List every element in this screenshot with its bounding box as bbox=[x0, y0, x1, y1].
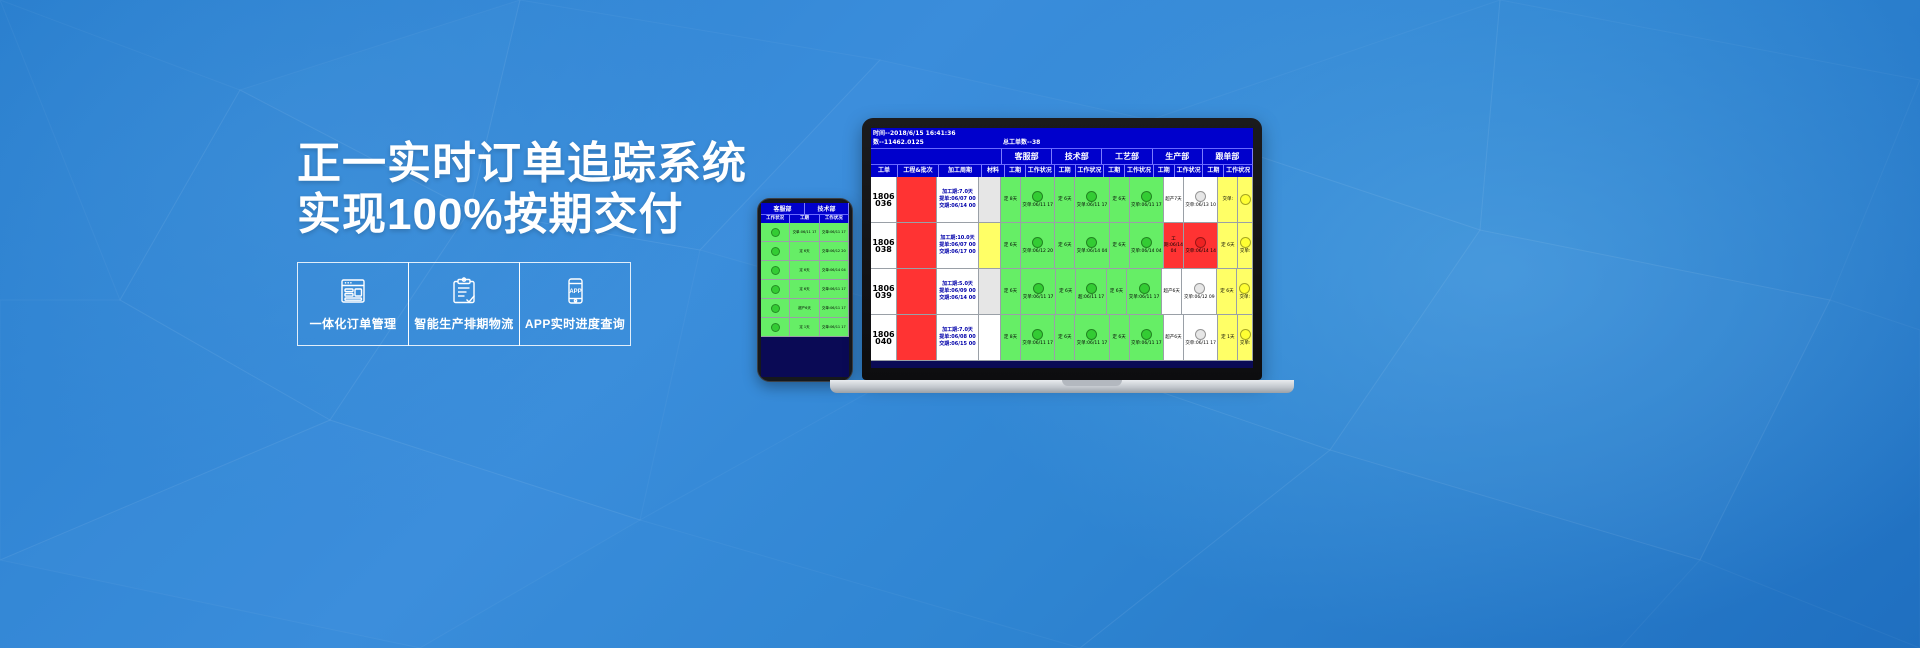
clipboard-check-icon bbox=[449, 276, 479, 306]
cell-生产部-status: 交单:06/12 09 bbox=[1182, 269, 1217, 314]
phone-cell-status bbox=[761, 299, 790, 317]
cell-order-no: 1806038 bbox=[871, 223, 897, 268]
feature-box-group: 一体化订单管理 智能生产排期物流 APP AP bbox=[297, 262, 630, 346]
cell-客服部-duration: 定 8天 bbox=[1001, 315, 1021, 360]
phone-col-1: 工期 bbox=[790, 215, 819, 223]
status-dot-icon bbox=[1032, 237, 1043, 248]
laptop-lid: 时间--2018/6/15 16:41:36 数--11462.0125 总工单… bbox=[862, 118, 1262, 380]
status-dot-icon bbox=[1086, 283, 1097, 294]
cell-material bbox=[979, 269, 1001, 314]
cell-工艺部-duration: 定 6天 bbox=[1110, 223, 1130, 268]
cell-跟单部-duration: 定 6天 bbox=[1218, 223, 1238, 268]
cell-cycle: 加工期:7.0天提单:06/07 00交期:06/14 00 bbox=[937, 177, 979, 222]
cell-技术部-status: 交单:06/11 17 bbox=[1075, 315, 1109, 360]
cell-工艺部-status: 交单:06/11 17 bbox=[1130, 315, 1164, 360]
phone-cell-date: 交单:06/14 04 bbox=[820, 261, 849, 279]
cell-跟单部-duration: 交单: bbox=[1218, 177, 1238, 222]
col-header-工艺部-工作状况: 工作状况 bbox=[1125, 165, 1154, 177]
status-dot-icon bbox=[1141, 191, 1152, 202]
phone-cell-date: 交单:06/11 17 bbox=[820, 223, 849, 241]
cell-技术部-duration: 定 6天 bbox=[1056, 269, 1076, 314]
col-header-0: 工单 bbox=[871, 165, 898, 177]
col-header-工艺部-工期: 工期 bbox=[1104, 165, 1125, 177]
phone-screen[interactable]: 客服部 技术部 工作状况 工期 工作状况 交单:06/11 17交单:06/11… bbox=[761, 203, 849, 377]
feature-label-app-progress: APP实时进度查询 bbox=[525, 315, 625, 332]
cell-material bbox=[979, 315, 1001, 360]
cell-生产部-status: 交单:06/14 14 bbox=[1184, 223, 1218, 268]
status-dot-icon bbox=[771, 323, 780, 332]
col-header-技术部-工作状况: 工作状况 bbox=[1076, 165, 1105, 177]
cell-跟单部-status: 交单: bbox=[1238, 315, 1253, 360]
col-header-跟单部-工期: 工期 bbox=[1203, 165, 1224, 177]
col-header-2: 加工周期 bbox=[939, 165, 982, 177]
phone-table-row[interactable]: 定 1天交单:06/11 17 bbox=[761, 318, 849, 337]
phone-cell-status bbox=[761, 280, 790, 298]
status-dot-icon bbox=[1239, 283, 1250, 294]
cell-跟单部-duration: 定 1天 bbox=[1218, 315, 1238, 360]
mobile-app-icon: APP bbox=[560, 276, 590, 306]
cell-工艺部-duration: 定 6天 bbox=[1107, 269, 1127, 314]
phone-table-row[interactable]: 定 6天交单:06/11 17 bbox=[761, 280, 849, 299]
dashboard-row-list: 1806036加工期:7.0天提单:06/07 00交期:06/14 00定 8… bbox=[871, 177, 1253, 361]
dashboard-department-header: 客服部 技术部 工艺部 生产部 跟单部 bbox=[871, 148, 1253, 164]
status-dot-icon bbox=[1194, 283, 1205, 294]
headline-line-1: 正一实时订单追踪系统 bbox=[297, 138, 767, 189]
dashboard-column-header: 工单工程&批次加工周期材料工期工作状况工期工作状况工期工作状况工期工作状况工期工… bbox=[871, 164, 1253, 177]
cell-生产部-status: 交单:06/11 17 bbox=[1184, 315, 1218, 360]
col-header-客服部-工期: 工期 bbox=[1005, 165, 1026, 177]
phone-col-2: 工作状况 bbox=[820, 215, 849, 223]
cell-客服部-status: 交单:06/11 17 bbox=[1021, 177, 1055, 222]
cell-material bbox=[979, 223, 1001, 268]
phone-body: 客服部 技术部 工作状况 工期 工作状况 交单:06/11 17交单:06/11… bbox=[757, 198, 853, 382]
cell-技术部-status: 交单:06/14 04 bbox=[1075, 223, 1109, 268]
layout-page-icon bbox=[338, 276, 368, 306]
status-dot-icon bbox=[1086, 329, 1097, 340]
cell-客服部-duration: 定 6天 bbox=[1001, 223, 1021, 268]
status-dot-icon bbox=[1139, 283, 1150, 294]
cell-工艺部-duration: 定 6天 bbox=[1110, 315, 1130, 360]
status-dot-icon bbox=[1195, 191, 1206, 202]
cell-技术部-status: 超:06/11 17 bbox=[1076, 269, 1107, 314]
phone-table-row[interactable]: 交单:06/11 17交单:06/11 17 bbox=[761, 223, 849, 242]
cell-工艺部-duration: 定 6天 bbox=[1110, 177, 1130, 222]
phone-cell-duration: 交单:06/11 17 bbox=[790, 223, 819, 241]
cell-工艺部-status: 交单:06/11 17 bbox=[1130, 177, 1164, 222]
cell-客服部-duration: 定 8天 bbox=[1001, 177, 1021, 222]
phone-mockup: 客服部 技术部 工作状况 工期 工作状况 交单:06/11 17交单:06/11… bbox=[757, 198, 853, 382]
cell-生产部-duration: 超产6天 bbox=[1162, 269, 1182, 314]
phone-cell-status bbox=[761, 318, 790, 336]
cell-cycle: 加工期:10.0天提单:06/07 00交期:06/17 00 bbox=[937, 223, 979, 268]
phone-col-0: 工作状况 bbox=[761, 215, 790, 223]
status-dot-icon bbox=[1032, 191, 1043, 202]
phone-cell-date: 交单:06/12 20 bbox=[820, 242, 849, 260]
status-dot-icon bbox=[1195, 237, 1206, 248]
phone-column-header: 工作状况 工期 工作状况 bbox=[761, 214, 849, 223]
cell-客服部-status: 交单:06/11 17 bbox=[1021, 269, 1056, 314]
status-dot-icon bbox=[771, 285, 780, 294]
dept-header-0: 客服部 bbox=[1002, 149, 1052, 164]
phone-cell-status bbox=[761, 261, 790, 279]
cell-工艺部-status: 交单:06/14 04 bbox=[1130, 223, 1164, 268]
cell-生产部-status: 交单:06/13 10 bbox=[1184, 177, 1218, 222]
cell-技术部-duration: 定 6天 bbox=[1055, 223, 1075, 268]
phone-cell-duration: 超产6天 bbox=[790, 299, 819, 317]
cell-batch bbox=[897, 223, 937, 268]
status-dot-icon bbox=[1141, 329, 1152, 340]
status-dot-icon bbox=[771, 304, 780, 313]
cell-生产部-duration: 超产7天 bbox=[1164, 177, 1184, 222]
phone-table-row[interactable]: 定 6天交单:06/12 20 bbox=[761, 242, 849, 261]
phone-cell-duration: 定 1天 bbox=[790, 318, 819, 336]
cell-order-no: 1806039 bbox=[871, 269, 897, 314]
status-dot-icon bbox=[1086, 191, 1097, 202]
dept-header-2: 工艺部 bbox=[1102, 149, 1152, 164]
dashboard-time: 时间--2018/6/15 16:41:36 bbox=[873, 129, 1003, 138]
status-dot-icon bbox=[1195, 329, 1206, 340]
cell-客服部-status: 交单:06/11 17 bbox=[1021, 315, 1055, 360]
feature-box-smart-scheduling[interactable]: 智能生产排期物流 bbox=[408, 262, 520, 346]
dept-header-4: 跟单部 bbox=[1203, 149, 1253, 164]
status-dot-icon bbox=[1032, 329, 1043, 340]
status-dot-icon bbox=[1086, 237, 1097, 248]
table-row[interactable]: 1806039加工期:5.0天提单:06/09 00交期:06/14 00定 6… bbox=[871, 269, 1253, 315]
phone-cell-duration: 定 6天 bbox=[790, 261, 819, 279]
status-dot-icon bbox=[771, 228, 780, 237]
phone-table-row[interactable]: 超产6天交单:06/11 17 bbox=[761, 299, 849, 318]
status-dot-icon bbox=[1240, 237, 1251, 248]
cell-技术部-duration: 定 6天 bbox=[1055, 177, 1075, 222]
cell-batch bbox=[897, 269, 937, 314]
status-dot-icon bbox=[1033, 283, 1044, 294]
status-dot-icon bbox=[1141, 237, 1152, 248]
laptop-screen[interactable]: 时间--2018/6/15 16:41:36 数--11462.0125 总工单… bbox=[871, 128, 1253, 368]
phone-cell-status bbox=[761, 242, 790, 260]
cell-跟单部-status: 交单: bbox=[1237, 269, 1253, 314]
phone-table-row[interactable]: 定 6天交单:06/14 04 bbox=[761, 261, 849, 280]
svg-text:APP: APP bbox=[569, 289, 581, 295]
col-header-跟单部-工作状况: 工作状况 bbox=[1224, 165, 1253, 177]
phone-department-header: 客服部 技术部 bbox=[761, 203, 849, 214]
table-row[interactable]: 1806040加工期:7.0天提单:06/08 00交期:06/15 00定 8… bbox=[871, 315, 1253, 361]
cell-batch bbox=[897, 177, 937, 222]
dashboard-total-orders: 总工单数--38 bbox=[1003, 138, 1251, 147]
laptop-mockup: 时间--2018/6/15 16:41:36 数--11462.0125 总工单… bbox=[862, 118, 1322, 418]
cell-order-no: 1806040 bbox=[871, 315, 897, 360]
phone-cell-date: 交单:06/11 17 bbox=[820, 299, 849, 317]
cell-生产部-duration: 工期:06/14 04 bbox=[1164, 223, 1184, 268]
col-header-生产部-工期: 工期 bbox=[1154, 165, 1175, 177]
headline-line-2: 实现100%按期交付 bbox=[297, 189, 767, 240]
status-dot-icon bbox=[1240, 194, 1251, 205]
cell-跟单部-duration: 定 6天 bbox=[1217, 269, 1237, 314]
cell-跟单部-status bbox=[1238, 177, 1253, 222]
feature-label-order-management: 一体化订单管理 bbox=[310, 315, 397, 332]
feature-box-order-management[interactable]: 一体化订单管理 bbox=[297, 262, 409, 346]
feature-box-app-progress[interactable]: APP APP实时进度查询 bbox=[519, 262, 631, 346]
cell-客服部-duration: 定 6天 bbox=[1001, 269, 1021, 314]
dept-header-1: 技术部 bbox=[1052, 149, 1102, 164]
dept-header-3: 生产部 bbox=[1153, 149, 1203, 164]
phone-cell-date: 交单:06/11 17 bbox=[820, 280, 849, 298]
table-row[interactable]: 1806038加工期:10.0天提单:06/07 00交期:06/17 00定 … bbox=[871, 223, 1253, 269]
laptop-notch bbox=[1062, 380, 1122, 386]
cell-客服部-status: 交单:06/12 20 bbox=[1021, 223, 1055, 268]
cell-cycle: 加工期:5.0天提单:06/09 00交期:06/14 00 bbox=[937, 269, 979, 314]
col-header-1: 工程&批次 bbox=[898, 165, 939, 177]
cell-工艺部-status: 交单:06/11 17 bbox=[1127, 269, 1162, 314]
dashboard-counter: 数--11462.0125 bbox=[873, 138, 1003, 147]
cell-技术部-status: 交单:06/11 17 bbox=[1075, 177, 1109, 222]
phone-cell-date: 交单:06/11 17 bbox=[820, 318, 849, 336]
phone-dept-0: 客服部 bbox=[761, 203, 805, 214]
col-header-3: 材料 bbox=[982, 165, 1005, 177]
hero-copy: 正一实时订单追踪系统 实现100%按期交付 bbox=[297, 138, 767, 240]
phone-cell-status bbox=[761, 223, 790, 241]
dashboard-topbar: 时间--2018/6/15 16:41:36 数--11462.0125 总工单… bbox=[871, 128, 1253, 148]
status-dot-icon bbox=[1240, 329, 1251, 340]
phone-cell-duration: 定 6天 bbox=[790, 280, 819, 298]
cell-material bbox=[979, 177, 1001, 222]
col-header-客服部-工作状况: 工作状况 bbox=[1026, 165, 1055, 177]
dept-header-spacer bbox=[871, 149, 1002, 164]
cell-生产部-duration: 超产6天 bbox=[1164, 315, 1184, 360]
cell-cycle: 加工期:7.0天提单:06/08 00交期:06/15 00 bbox=[937, 315, 979, 360]
cell-技术部-duration: 定 6天 bbox=[1055, 315, 1075, 360]
cell-跟单部-status: 交单: bbox=[1238, 223, 1253, 268]
status-dot-icon bbox=[771, 247, 780, 256]
phone-dept-1: 技术部 bbox=[805, 203, 849, 214]
cell-batch bbox=[897, 315, 937, 360]
feature-label-smart-scheduling: 智能生产排期物流 bbox=[414, 315, 513, 332]
phone-cell-duration: 定 6天 bbox=[790, 242, 819, 260]
col-header-生产部-工作状况: 工作状况 bbox=[1175, 165, 1204, 177]
table-row[interactable]: 1806036加工期:7.0天提单:06/07 00交期:06/14 00定 8… bbox=[871, 177, 1253, 223]
phone-row-list: 交单:06/11 17交单:06/11 17定 6天交单:06/12 20定 6… bbox=[761, 223, 849, 337]
col-header-技术部-工期: 工期 bbox=[1055, 165, 1076, 177]
status-dot-icon bbox=[771, 266, 780, 275]
cell-order-no: 1806036 bbox=[871, 177, 897, 222]
